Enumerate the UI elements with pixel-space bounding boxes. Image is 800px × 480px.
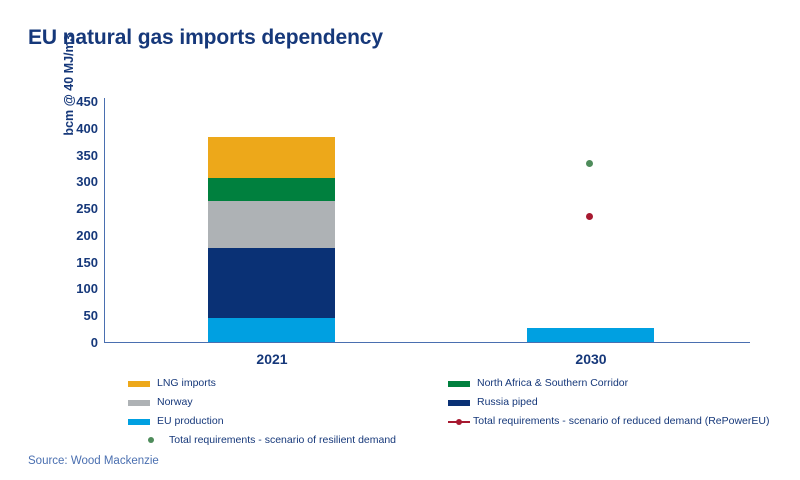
legend-swatch-lng-imports <box>128 381 150 387</box>
legend-line-marker-reduced-demand <box>448 418 470 425</box>
y-tick-450: 450 <box>52 95 98 108</box>
chart-page: EU natural gas imports dependency bcm @ … <box>0 0 800 480</box>
bar-2021-lng-imports <box>208 137 335 178</box>
x-tick-2030: 2030 <box>521 351 661 367</box>
bar-2021-russia-piped <box>208 248 335 318</box>
legend-label-reduced-demand: Total requirements - scenario of reduced… <box>473 416 769 427</box>
bar-2021-eu-production <box>208 318 335 342</box>
legend-swatch-norway <box>128 400 150 406</box>
legend-label-eu-production: EU production <box>157 416 224 427</box>
y-tick-150: 150 <box>52 256 98 269</box>
y-tick-100: 100 <box>52 282 98 295</box>
marker-resilient-demand-2030 <box>586 160 593 167</box>
x-axis-line <box>104 342 750 343</box>
legend-item-eu-production[interactable]: EU production <box>128 416 224 427</box>
y-tick-0: 0 <box>52 336 98 349</box>
legend-label-russia-piped: Russia piped <box>477 397 538 408</box>
page-title: EU natural gas imports dependency <box>28 26 383 50</box>
legend-swatch-eu-production <box>128 419 150 425</box>
source-note: Source: Wood Mackenzie <box>28 455 159 467</box>
legend-swatch-russia-piped <box>448 400 470 406</box>
legend-label-north-africa-southern-corridor: North Africa & Southern Corridor <box>477 378 628 389</box>
legend-item-russia-piped[interactable]: Russia piped <box>448 397 538 408</box>
legend-label-norway: Norway <box>157 397 193 408</box>
y-tick-200: 200 <box>52 229 98 242</box>
y-tick-350: 350 <box>52 149 98 162</box>
legend-item-lng-imports[interactable]: LNG imports <box>128 378 216 389</box>
x-tick-2021: 2021 <box>202 351 342 367</box>
legend-item-norway[interactable]: Norway <box>128 397 193 408</box>
bar-2021-north-africa-southern-corridor <box>208 178 335 201</box>
bar-2030-eu-production <box>527 328 654 342</box>
bar-2021-norway <box>208 201 335 248</box>
marker-reduced-demand-2030 <box>586 213 593 220</box>
y-axis-line <box>104 98 105 342</box>
y-tick-400: 400 <box>52 122 98 135</box>
legend-item-resilient-demand[interactable]: Total requirements - scenario of resilie… <box>140 435 396 446</box>
chart-legend: LNG imports North Africa & Southern Corr… <box>0 376 800 446</box>
legend-swatch-north-africa-southern-corridor <box>448 381 470 387</box>
legend-item-north-africa-southern-corridor[interactable]: North Africa & Southern Corridor <box>448 378 628 389</box>
y-tick-50: 50 <box>52 309 98 322</box>
legend-label-resilient-demand: Total requirements - scenario of resilie… <box>169 435 396 446</box>
legend-marker-resilient-demand <box>140 437 162 444</box>
legend-item-reduced-demand[interactable]: Total requirements - scenario of reduced… <box>448 416 769 427</box>
y-tick-300: 300 <box>52 175 98 188</box>
legend-label-lng-imports: LNG imports <box>157 378 216 389</box>
y-tick-250: 250 <box>52 202 98 215</box>
